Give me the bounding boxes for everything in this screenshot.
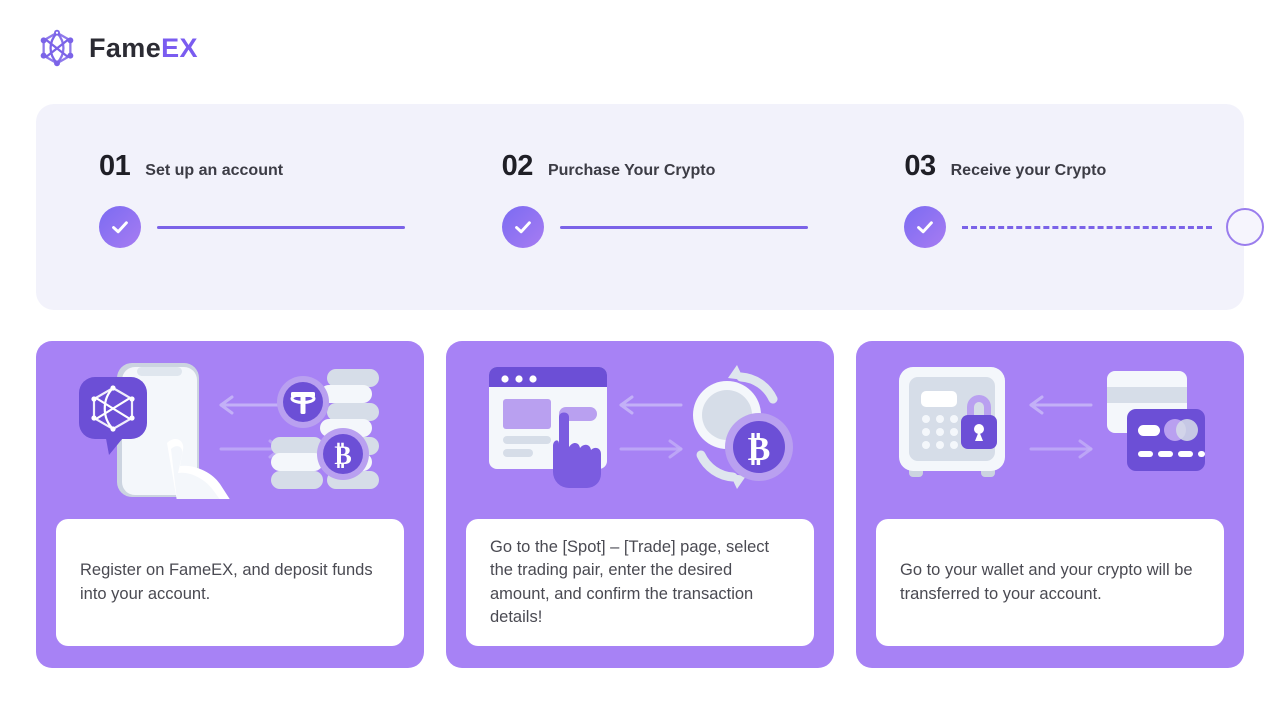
step-card-1[interactable]: ₿ Register on FameEX, and deposit funds … [36, 341, 424, 668]
step-item-01[interactable]: 01 Set up an account [36, 104, 439, 310]
step-progress-track [904, 203, 1264, 251]
card-caption: Register on FameEX, and deposit funds in… [56, 519, 404, 646]
brand-name-primary: Fame [89, 33, 161, 63]
step-progress-track [502, 203, 808, 251]
step-number: 01 [99, 152, 130, 181]
step-header: 01 Set up an account [99, 152, 439, 186]
step-header: 03 Receive your Crypto [904, 152, 1244, 186]
check-icon [904, 206, 946, 248]
step-title: Purchase Your Crypto [548, 163, 715, 179]
card-caption: Go to your wallet and your crypto will b… [876, 519, 1224, 646]
step-item-02[interactable]: 02 Purchase Your Crypto [439, 104, 842, 310]
steps-cards-row: ₿ Register on FameEX, and deposit funds … [36, 341, 1244, 668]
phone-hand-chat-bubble-coins-illustration-icon: ₿ [36, 341, 424, 517]
step-header: 02 Purchase Your Crypto [502, 152, 842, 186]
brand-name: FameEX [89, 35, 198, 62]
step-connector-solid [157, 226, 405, 229]
step-card-2[interactable]: ₿ Go to the [Spot] – [Trade] page, selec… [446, 341, 834, 668]
check-icon [99, 206, 141, 248]
step-item-03[interactable]: 03 Receive your Crypto [841, 104, 1244, 310]
card-caption-text: Go to your wallet and your crypto will b… [900, 559, 1200, 606]
safe-vault-padlock-credit-cards-illustration-icon [856, 341, 1244, 517]
step-progress-track [99, 203, 405, 251]
svg-text:₿: ₿ [334, 441, 351, 470]
browser-window-click-hand-swap-bitcoin-illustration-icon: ₿ [446, 341, 834, 517]
step-number: 02 [502, 152, 533, 181]
svg-text:₿: ₿ [748, 431, 771, 468]
step-title: Set up an account [145, 163, 283, 179]
step-connector-solid [560, 226, 808, 229]
card-caption-text: Register on FameEX, and deposit funds in… [80, 559, 380, 606]
progress-steps-panel: 01 Set up an account 02 Purchase Your Cr… [36, 104, 1244, 310]
step-card-3[interactable]: Go to your wallet and your crypto will b… [856, 341, 1244, 668]
step-title: Receive your Crypto [951, 163, 1107, 179]
card-caption: Go to the [Spot] – [Trade] page, select … [466, 519, 814, 646]
empty-circle-icon [1226, 208, 1264, 246]
fameex-hexagon-network-logo-icon [36, 27, 78, 69]
step-connector-dashed [962, 226, 1212, 229]
card-caption-text: Go to the [Spot] – [Trade] page, select … [490, 536, 790, 630]
brand-name-accent: EX [161, 33, 198, 63]
check-icon [502, 206, 544, 248]
step-number: 03 [904, 152, 935, 181]
brand-logo[interactable]: FameEX [36, 24, 198, 72]
